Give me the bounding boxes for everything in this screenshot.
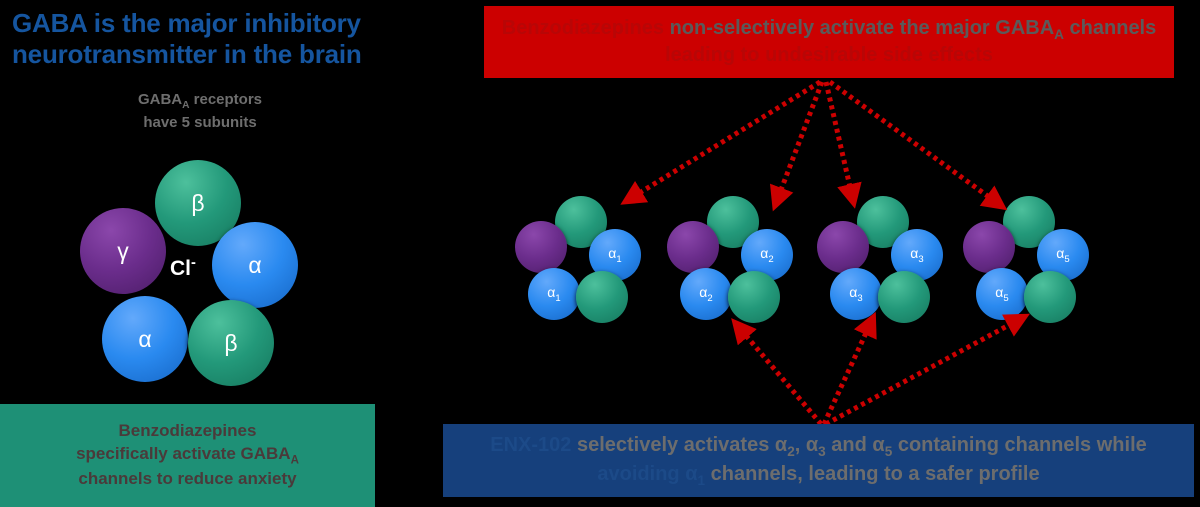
subunit-beta-bottom-right: β [188,300,274,386]
blue-banner-visible-4: containing channels while [892,434,1146,456]
subunit-alpha-bottom-left: α1 [528,268,580,320]
subunit-alpha-bottom-left: α [102,296,188,382]
red-banner-subscript-a: A [1054,27,1064,42]
subunit-beta-bottom-right [576,271,628,323]
green-banner-line3: channels to reduce anxiety [78,469,296,488]
arrow-to-receptor-2 [737,325,821,424]
subunit-label: γ [117,238,129,265]
subunit-gamma-left: γ [80,208,166,294]
blue-banner-sub-3: 3 [818,444,826,459]
subunit-beta-bottom-right [728,271,780,323]
arrows-from-enx102-banner [737,318,1022,424]
blue-banner-sub-2: 2 [787,444,795,459]
green-banner-line2: specifically activate GABAA [76,444,299,463]
subunit-alpha-right: α [212,222,298,308]
subunit-gamma-left [963,221,1015,273]
slide-canvas: GABA is the major inhibitory neurotransm… [0,0,1200,507]
receptor-caption-line2: have 5 subunits [143,114,256,131]
blue-banner-faded-tail: avoiding α [597,463,697,485]
subunit-label: α [248,252,261,279]
subunit-label: β [224,330,237,357]
subunit-alpha-bottom-left: α5 [976,268,1028,320]
red-banner-visible-2: channels [1064,17,1156,39]
receptor-subtype-4: α5 α5 [958,196,1088,316]
receptor-subtype-3: α3 α3 [812,196,942,316]
blue-banner-visible-1: selectively activates α [571,434,787,456]
benzodiazepine-nonselective-banner: Benzodiazepines non-selectively activate… [484,6,1174,78]
green-banner-line1: Benzodiazepines [119,421,257,440]
red-banner-faded-tail: leading to undesirable side effects [665,44,993,66]
red-banner-faded-lead: Benzodiazepines [502,17,664,39]
subunit-label: α [138,326,151,353]
arrow-to-receptor-1 [628,82,820,200]
receptor-caption-line1: GABAA receptors [138,91,262,108]
subunit-label: β [191,190,204,217]
reference-receptor-diagram: β γ α α β Cl- [70,160,320,380]
benzodiazepine-anxiety-banner: Benzodiazepines specifically activate GA… [0,404,375,507]
blue-banner-faded-tail-sub: 1 [697,473,705,488]
subunit-alpha-bottom-left: α3 [830,268,882,320]
subunit-alpha-bottom-left: α2 [680,268,732,320]
red-banner-visible-1: non-selectively activate the major GABA [664,17,1054,39]
arrows-from-benzodiazepine-banner [628,82,1000,205]
page-title: GABA is the major inhibitory neurotransm… [12,8,412,69]
arrow-to-receptor-3 [826,82,853,200]
receptor-caption: GABAA receptors have 5 subunits [40,90,360,133]
subunit-gamma-left [515,221,567,273]
arrow-to-receptor-2 [776,82,822,203]
enx102-selective-banner: ENX-102 selectively activates α2, α3 and… [443,424,1194,497]
blue-banner-faded-lead: ENX-102 [490,434,571,456]
arrow-to-receptor-3 [824,320,872,424]
chloride-ion-label: Cl- [170,255,196,281]
receptor-subtype-1: α1 α1 [510,196,640,316]
blue-banner-visible-5: channels, leading to a safer profile [705,463,1040,485]
subunit-beta-bottom-right [878,271,930,323]
arrow-to-receptor-4 [826,318,1022,424]
blue-banner-visible-2: , α [795,434,818,456]
subunit-gamma-left [817,221,869,273]
subunit-gamma-left [667,221,719,273]
arrow-to-receptor-4 [830,82,1000,205]
blue-banner-visible-3: and α [826,434,885,456]
receptor-subtype-2: α2 α2 [662,196,792,316]
subunit-beta-bottom-right [1024,271,1076,323]
